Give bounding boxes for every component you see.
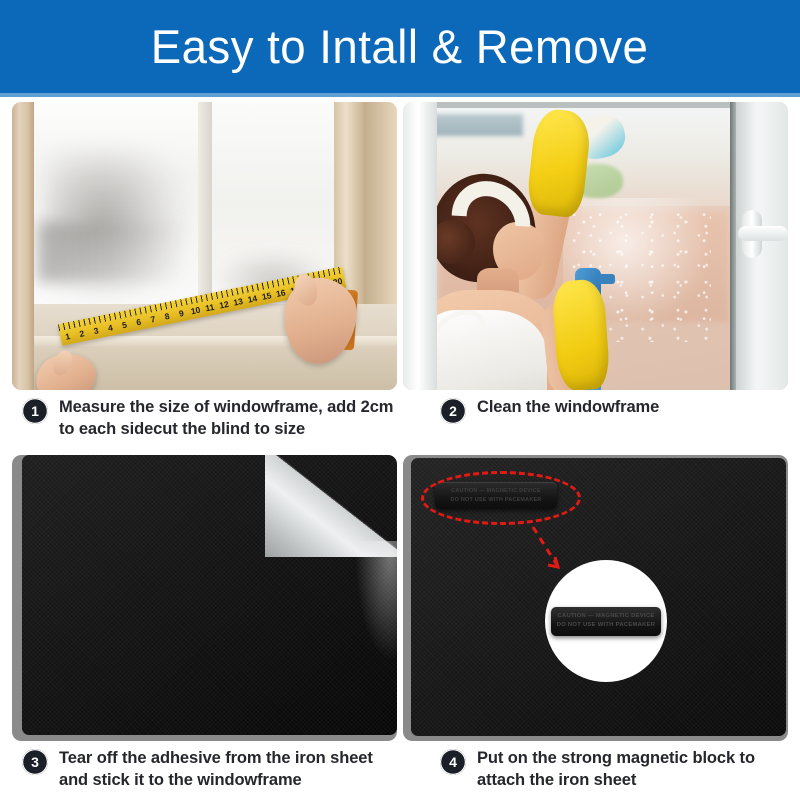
magnifier-circle: CAUTION — MAGNETIC DEVICE DO NOT USE WIT… [545,560,667,682]
step-1-number: 1 [22,398,48,424]
step-4-badge: 4 [440,749,466,775]
corner-light-glow [355,541,397,661]
step-4-caption-text: Put on the strong magnetic block to atta… [477,748,785,792]
callout-leader-line [531,525,567,573]
magnified-magnetic-block: CAUTION — MAGNETIC DEVICE DO NOT USE WIT… [551,607,661,636]
step-1-badge: 1 [22,398,48,424]
step-2-caption-text: Clean the windowframe [477,397,659,419]
step-1-caption-text: Measure the size of windowframe, add 2cm… [59,397,397,441]
magnified-caution-line-1: CAUTION — MAGNETIC DEVICE [557,612,654,621]
rooftop-blur [433,114,523,136]
step-4-caption: 4 Put on the strong magnetic block to at… [440,748,785,792]
window-handle-lever [738,226,788,241]
step-2-image [403,102,788,390]
page-title: Easy to Intall & Remove [151,23,649,70]
step-3-caption-text: Tear off the adhesive from the iron shee… [59,748,397,792]
header-banner: Easy to Intall & Remove [0,0,800,93]
infographic-page: Easy to Intall & Remove 1234567891011121… [0,0,800,800]
window-frame-left [403,102,437,390]
step-2-number: 2 [440,398,466,424]
step-3-image [12,455,397,741]
window-jamb-left [12,102,34,390]
step-4-image: CAUTION — MAGNETIC DEVICE DO NOT USE WIT… [403,455,788,741]
step-2-caption: 2 Clean the windowframe [440,397,785,424]
step-1-image: 1234567891011121314151617181920 [12,102,397,390]
outdoor-blur-left-2 [38,222,188,282]
magnified-caution-line-2: DO NOT USE WITH PACEMAKER [557,621,656,630]
step-2-badge: 2 [440,398,466,424]
spray-bottle-nozzle [597,274,615,284]
red-dashed-highlight-oval [421,471,581,525]
window-frame-top [437,102,730,108]
step-3-badge: 3 [22,749,48,775]
step-1-caption: 1 Measure the size of windowframe, add 2… [22,397,397,441]
step-3-number: 3 [22,749,48,775]
header-underline [0,93,800,97]
step-3-caption: 3 Tear off the adhesive from the iron sh… [22,748,397,792]
step-4-number: 4 [440,749,466,775]
